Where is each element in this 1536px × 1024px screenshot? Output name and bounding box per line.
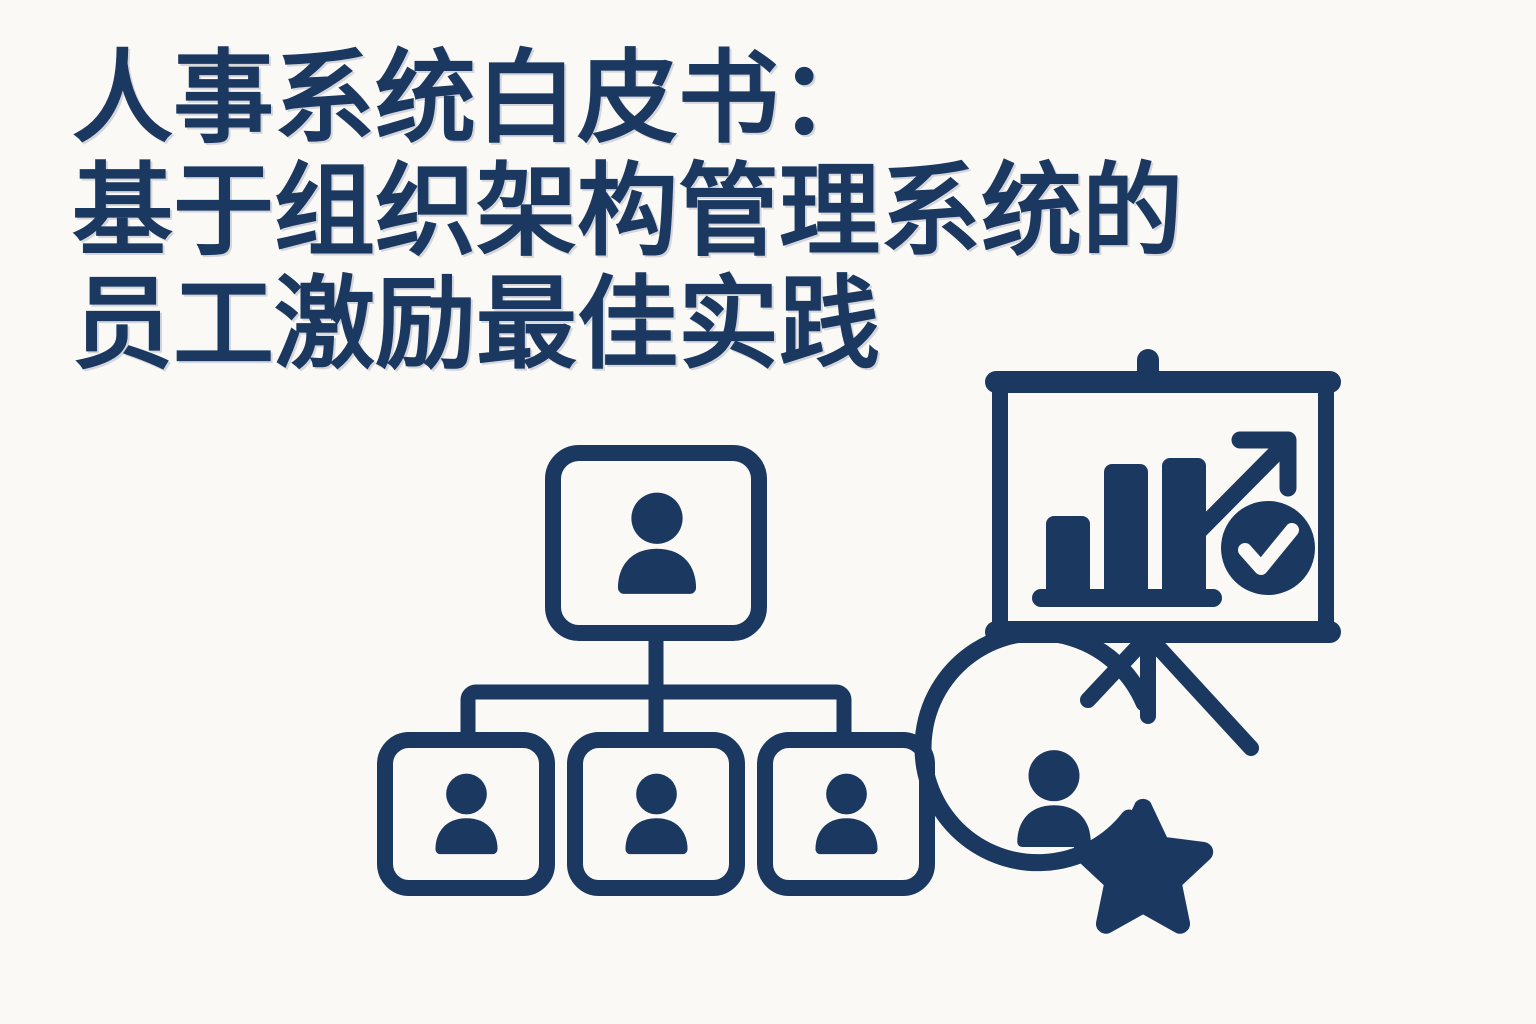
check-circle-icon [1221, 501, 1315, 595]
title-line-2: 基于组织架构管理系统的 [72, 155, 1332, 268]
bar-chart [1046, 458, 1206, 598]
org-node-child-3[interactable] [765, 740, 927, 888]
org-node-root[interactable] [553, 453, 759, 633]
bar-3 [1162, 458, 1206, 598]
up-right-arrow-icon [1178, 440, 1288, 552]
presentation-board[interactable] [996, 360, 1330, 748]
title-line-1: 人事系统白皮书： [72, 42, 1332, 155]
title-line-3: 员工激励最佳实践 [72, 268, 1332, 381]
bar-1 [1046, 516, 1090, 598]
easel-legs [1088, 636, 1251, 748]
org-node-child-1[interactable] [385, 740, 547, 888]
page-title: 人事系统白皮书： 基于组织架构管理系统的 员工激励最佳实践 [72, 42, 1332, 381]
org-chart-connectors [468, 634, 844, 740]
cover-canvas: 人事系统白皮书： 基于组织架构管理系统的 员工激励最佳实践 [0, 0, 1536, 1024]
star-icon [1076, 802, 1210, 931]
employee-award-badge[interactable] [923, 633, 1210, 931]
bar-2 [1104, 464, 1148, 598]
award-ring-icon [923, 633, 1144, 863]
org-chart [385, 453, 927, 888]
org-node-child-2[interactable] [575, 740, 737, 888]
